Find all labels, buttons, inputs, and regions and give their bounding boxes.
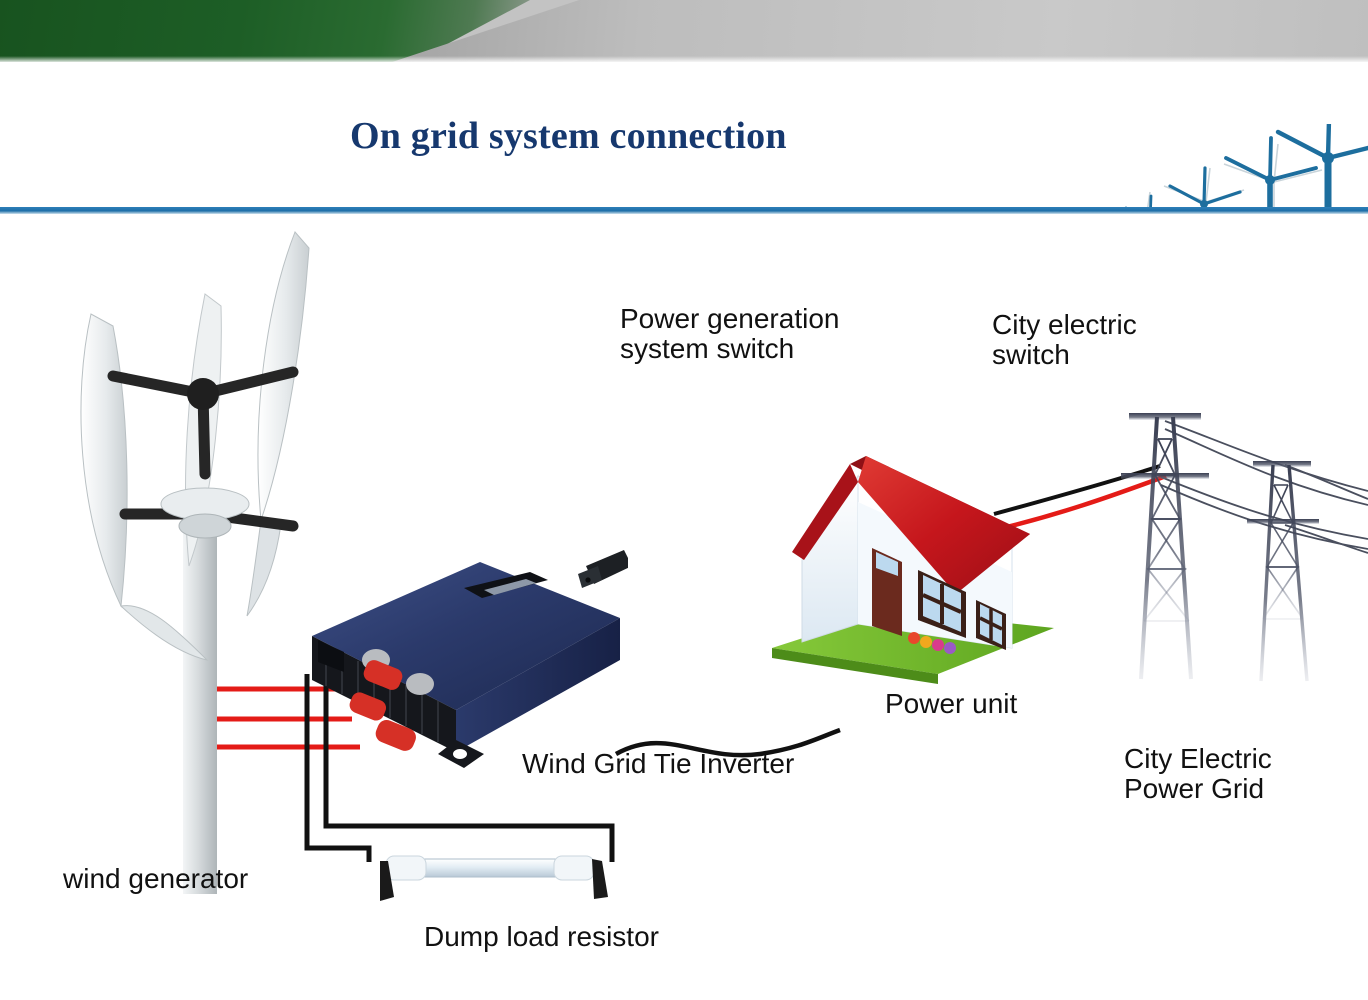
label-wind-grid-tie-inverter: Wind Grid Tie Inverter <box>522 749 794 779</box>
top-color-band <box>0 0 1368 62</box>
pylon-left <box>1121 413 1209 679</box>
header-banner: On grid system connection <box>0 62 1368 218</box>
dump-load-resistor-illustration <box>350 839 630 914</box>
label-city-electric-switch: City electric switch <box>992 310 1137 370</box>
conductor-lines <box>1161 421 1368 553</box>
resistor-bracket-right <box>592 859 608 899</box>
turbine-upper-hub <box>187 378 219 410</box>
header-divider-rule <box>0 207 1368 214</box>
pylon-right <box>1247 461 1319 681</box>
label-power-generation-system-switch: Power generation system switch <box>620 304 839 364</box>
label-city-electric-power-grid: City Electric Power Grid <box>1124 744 1272 804</box>
turbine-blade-left <box>81 314 127 606</box>
label-wind-generator: wind generator <box>63 864 248 894</box>
resistor-cap-right <box>554 856 594 880</box>
inverter-mount-hole <box>453 749 467 759</box>
resistor-cap-left <box>386 856 426 880</box>
house-power-unit-illustration <box>762 442 1062 692</box>
label-dump-load-resistor: Dump load resistor <box>424 922 659 952</box>
label-power-unit: Power unit <box>885 689 1017 719</box>
turbine-mast <box>183 514 217 894</box>
page-title: On grid system connection <box>350 114 910 158</box>
turbine-bearing <box>179 514 231 538</box>
inverter-ac-plug <box>578 550 628 588</box>
transmission-pylons-illustration <box>1085 399 1368 699</box>
diagram-canvas: Power generation system switch City elec… <box>0 214 1368 1000</box>
